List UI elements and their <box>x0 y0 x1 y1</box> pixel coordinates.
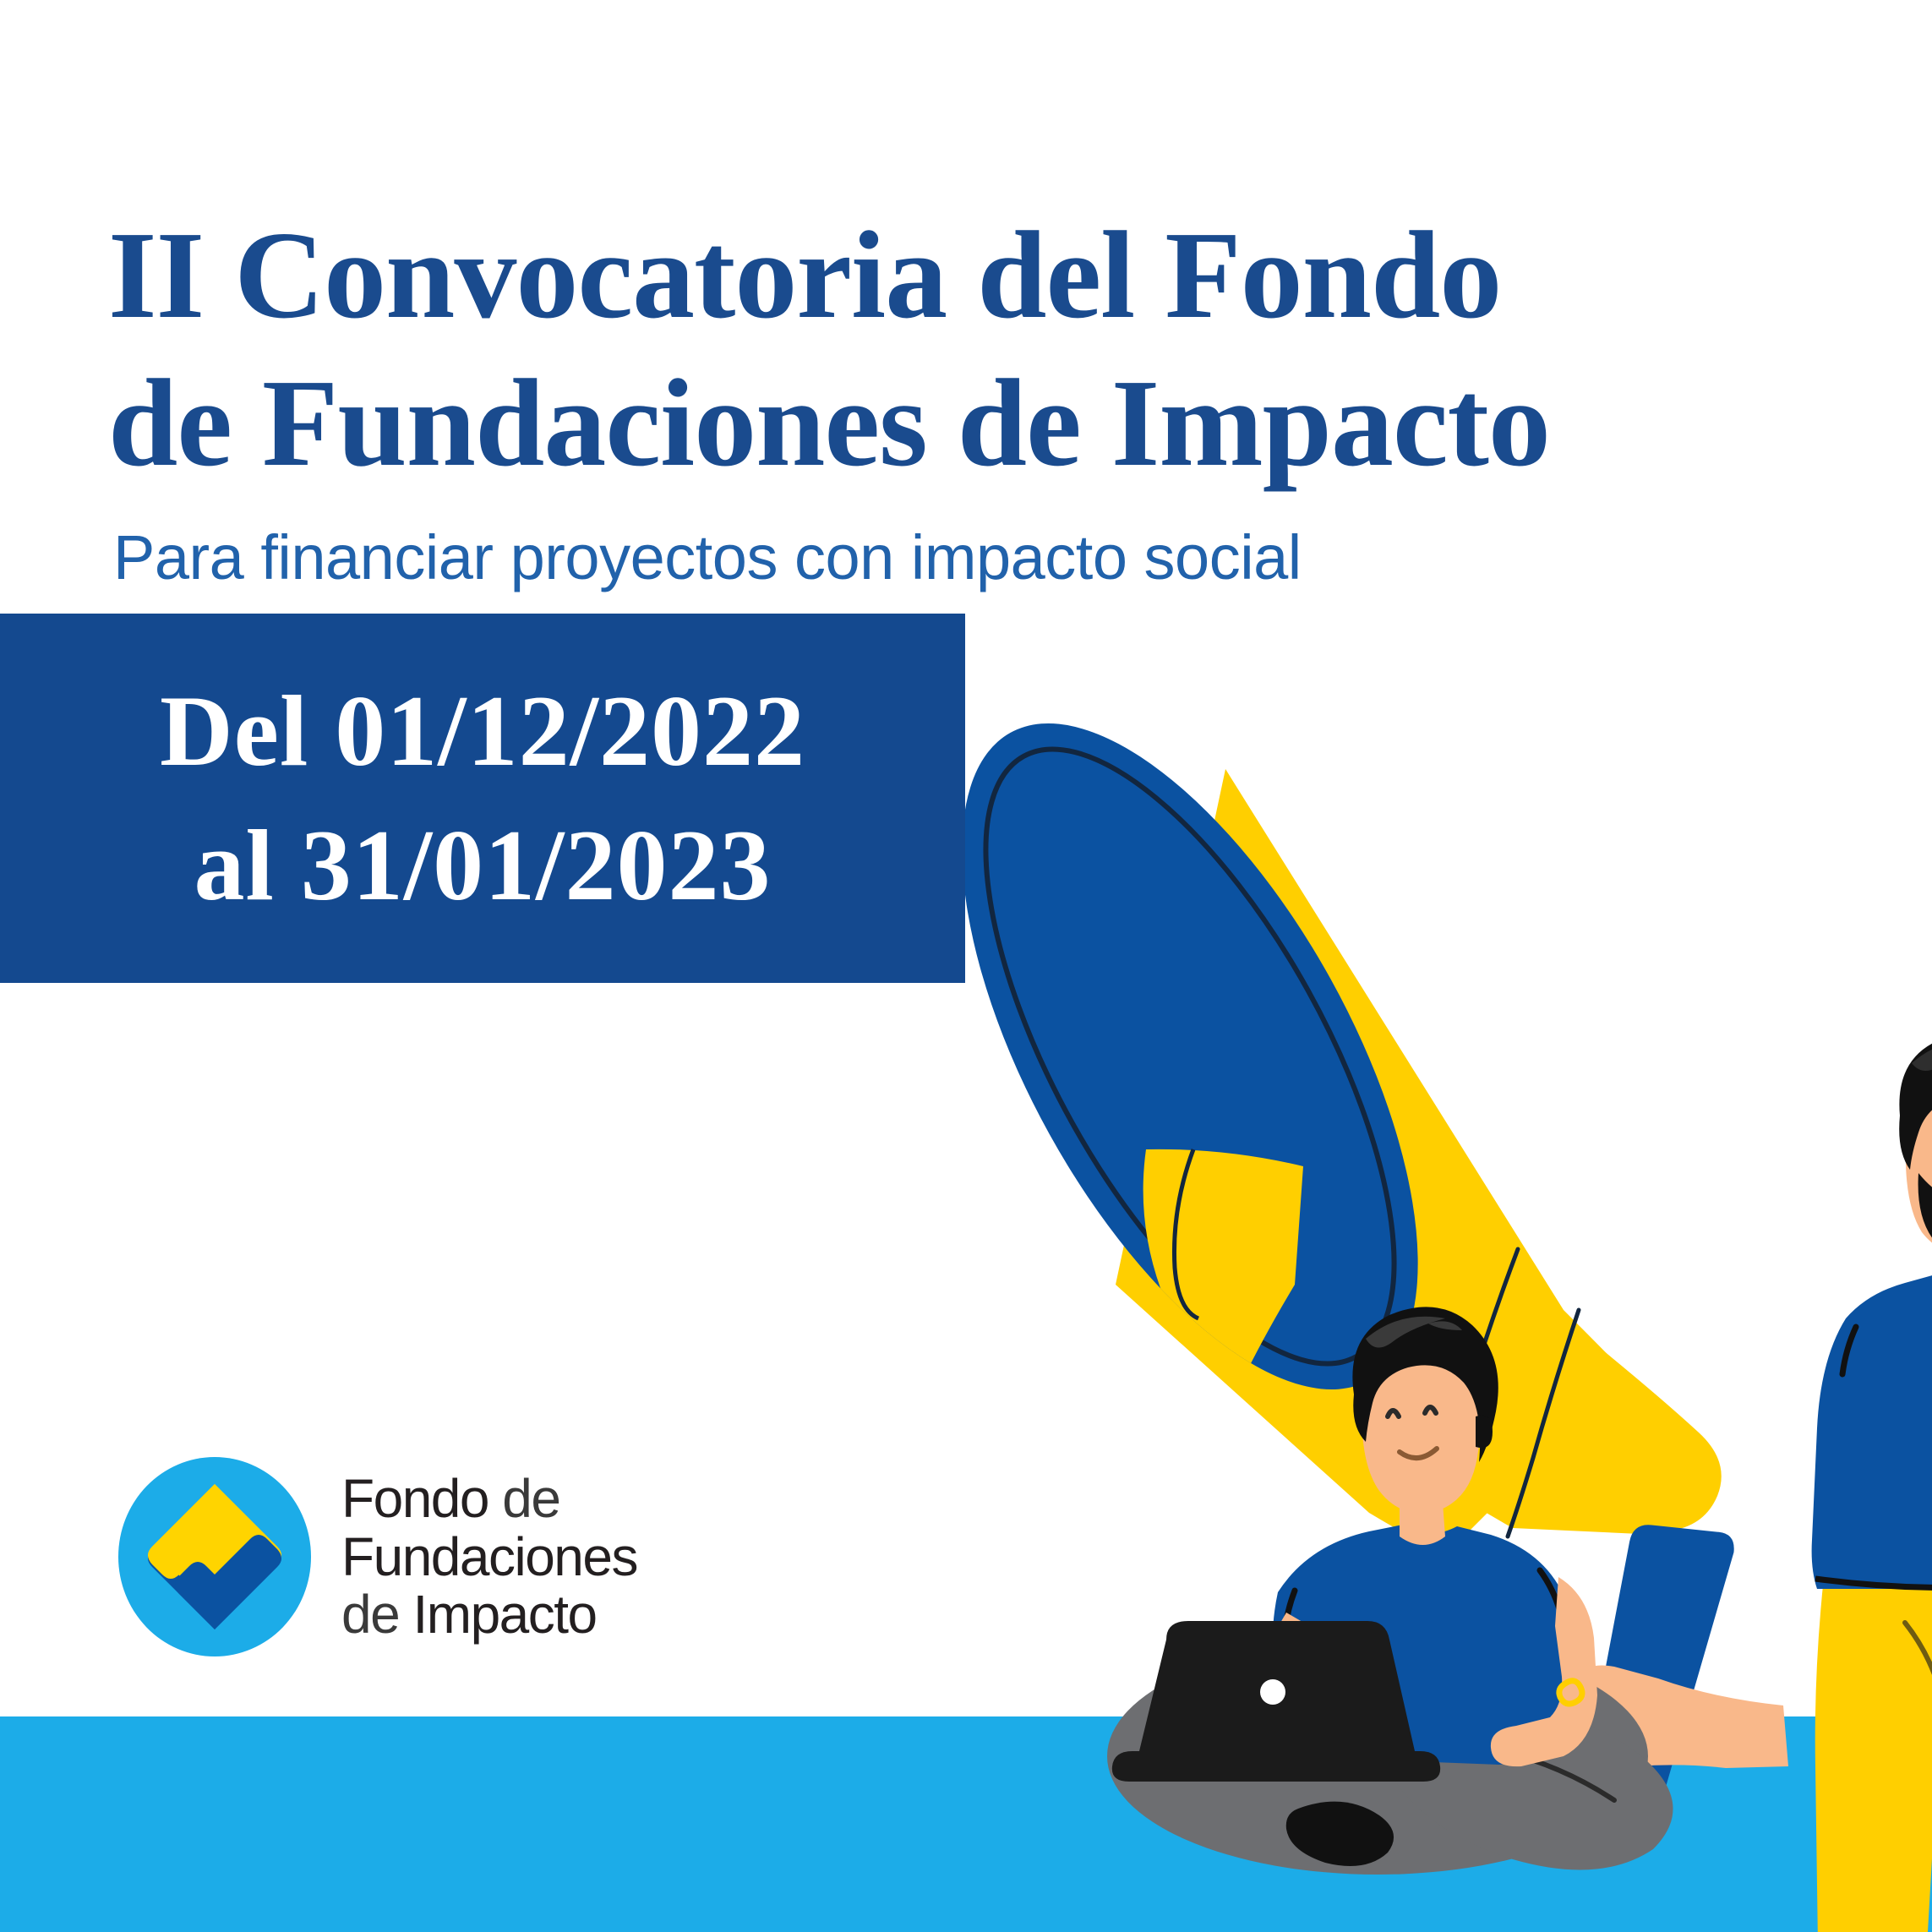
illustration-group <box>972 642 1932 1851</box>
date-range-banner: Del 01/12/2022 al 31/01/2023 <box>0 614 965 983</box>
page-title-line-2: de Fundaciones de Impacto <box>108 350 1596 498</box>
logo-wordmark-line-2: Fundaciones <box>341 1528 637 1585</box>
date-range-line-1: Del 01/12/2022 <box>160 664 805 798</box>
page-title-line-1: II Convocatoria del Fondo <box>108 202 1596 350</box>
logo-wordmark: Fondo de Fundaciones de Impacto <box>341 1470 637 1643</box>
page-title: II Convocatoria del Fondo de Fundaciones… <box>108 202 1596 497</box>
logo-lockup: Fondo de Fundaciones de Impacto <box>117 1455 637 1658</box>
fondo-fundaciones-logo-icon <box>117 1455 313 1658</box>
logo-wordmark-line-1: Fondo de <box>341 1470 637 1527</box>
poster-canvas: II Convocatoria del Fondo de Fundaciones… <box>0 0 1932 1932</box>
page-subtitle: Para financiar proyectos con impacto soc… <box>113 523 1302 592</box>
date-range-line-2: al 31/01/2023 <box>194 799 771 932</box>
logo-wordmark-line-3: de Impacto <box>341 1585 637 1643</box>
